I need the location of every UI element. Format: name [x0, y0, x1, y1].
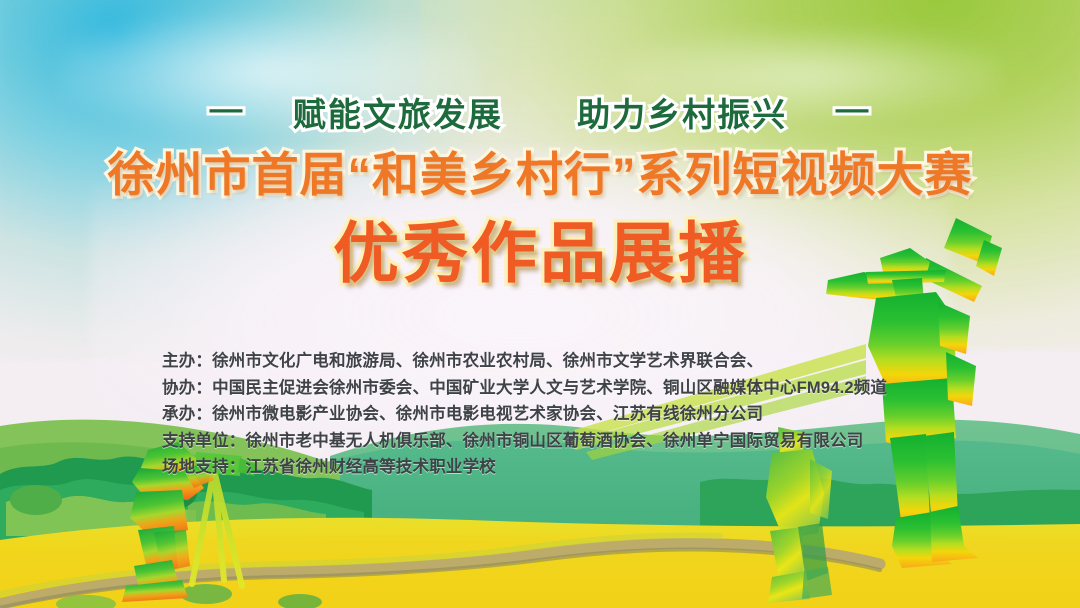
- subtitle-dash-right: —: [836, 92, 871, 125]
- subtitle-dash-left: —: [209, 92, 244, 125]
- credit-line-supporters: 支持单位：徐州市老中基无人机俱乐部、徐州市铜山区葡萄酒协会、徐州单宁国际贸易有限…: [162, 428, 887, 455]
- credits-block: 主办：徐州市文化广电和旅游局、徐州市农业农村局、徐州市文学艺术界联合会、 协办：…: [162, 348, 887, 481]
- credit-line-organizer: 主办：徐州市文化广电和旅游局、徐州市农业农村局、徐州市文学艺术界联合会、: [162, 348, 887, 375]
- subtitle-text-part2: 助力乡村振兴: [577, 96, 787, 133]
- subtitle-text-part1: 赋能文旅发展: [293, 96, 503, 133]
- credit-line-coorganizer: 协办：中国民主促进会徐州市委会、中国矿业大学人文与艺术学院、铜山区融媒体中心FM…: [162, 375, 887, 402]
- credit-line-undertaker: 承办：徐州市微电影产业协会、徐州市电影电视艺术家协会、江苏有线徐州分公司: [162, 401, 887, 428]
- headline-subtitle: — 赋能文旅发展 助力乡村振兴 —: [209, 92, 870, 131]
- credit-line-venue-support: 场地支持：江苏省徐州财经高等技术职业学校: [162, 454, 887, 481]
- headline-main-title: 徐州市首届“和美乡村行”系列短视频大赛: [0, 151, 1080, 198]
- poster-canvas: — 赋能文旅发展 助力乡村振兴 — 徐州市首届“和美乡村行”系列短视频大赛 优秀…: [0, 0, 1080, 608]
